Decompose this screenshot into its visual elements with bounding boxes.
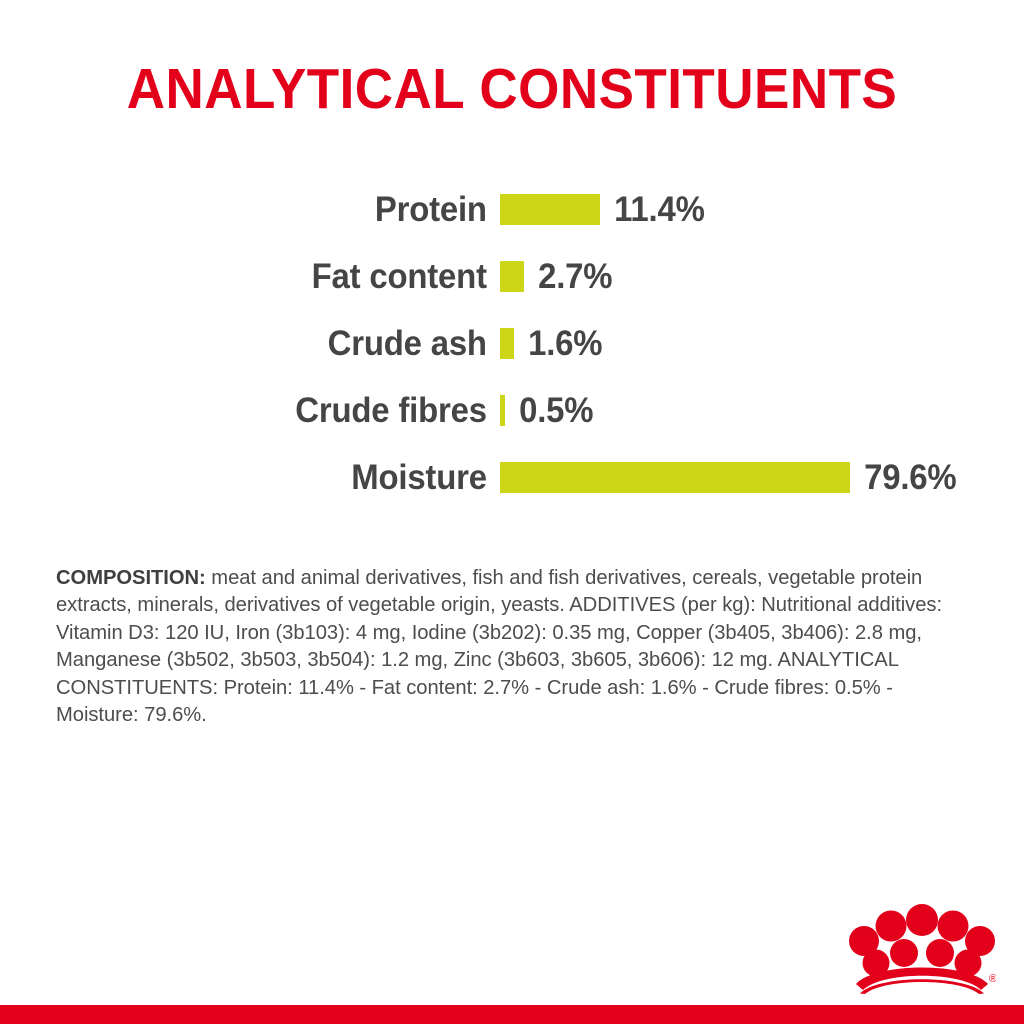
chart-row-crude-fibres: Crude fibres 0.5% bbox=[0, 377, 1024, 444]
chart-row-label: Crude ash bbox=[30, 325, 500, 363]
chart-bar-value: 0.5% bbox=[505, 392, 593, 430]
chart-row-moisture: Moisture 79.6% bbox=[0, 444, 1024, 511]
chart-bar bbox=[500, 261, 524, 292]
composition-body: meat and animal derivatives, fish and fi… bbox=[56, 566, 942, 727]
chart-row-protein: Protein 11.4% bbox=[0, 176, 1024, 243]
chart-bar-value: 1.6% bbox=[514, 325, 602, 363]
bottom-red-band bbox=[0, 1005, 1024, 1024]
analytical-constituents-chart: Protein 11.4% Fat content 2.7% Crude ash… bbox=[0, 176, 1024, 511]
svg-text:®: ® bbox=[989, 973, 996, 985]
chart-bar-group: 0.5% bbox=[500, 392, 1024, 430]
chart-bar bbox=[500, 328, 514, 359]
page-title: ANALYTICAL CONSTITUENTS bbox=[36, 57, 988, 121]
chart-row-label: Fat content bbox=[30, 258, 500, 296]
chart-bar bbox=[500, 194, 600, 225]
chart-bar-group: 1.6% bbox=[500, 325, 1024, 363]
composition-text: COMPOSITION: meat and animal derivatives… bbox=[56, 564, 960, 729]
chart-row-label: Moisture bbox=[30, 459, 500, 497]
chart-bar bbox=[500, 462, 850, 493]
chart-row-label: Crude fibres bbox=[30, 392, 500, 430]
chart-row-label: Protein bbox=[30, 191, 500, 229]
chart-bar-group: 11.4% bbox=[500, 191, 1024, 229]
chart-row-crude-ash: Crude ash 1.6% bbox=[0, 310, 1024, 377]
royal-canin-crown-logo: ® bbox=[848, 898, 996, 994]
analytical-constituents-panel: ANALYTICAL CONSTITUENTS Protein 11.4% Fa… bbox=[0, 0, 1024, 1024]
composition-lead: COMPOSITION: bbox=[56, 566, 206, 589]
chart-bar-value: 2.7% bbox=[524, 258, 612, 296]
chart-row-fat-content: Fat content 2.7% bbox=[0, 243, 1024, 310]
chart-bar-value: 79.6% bbox=[850, 459, 956, 497]
chart-bar-value: 11.4% bbox=[600, 191, 705, 229]
chart-bar-group: 2.7% bbox=[500, 258, 1024, 296]
chart-bar-group: 79.6% bbox=[500, 459, 1024, 497]
